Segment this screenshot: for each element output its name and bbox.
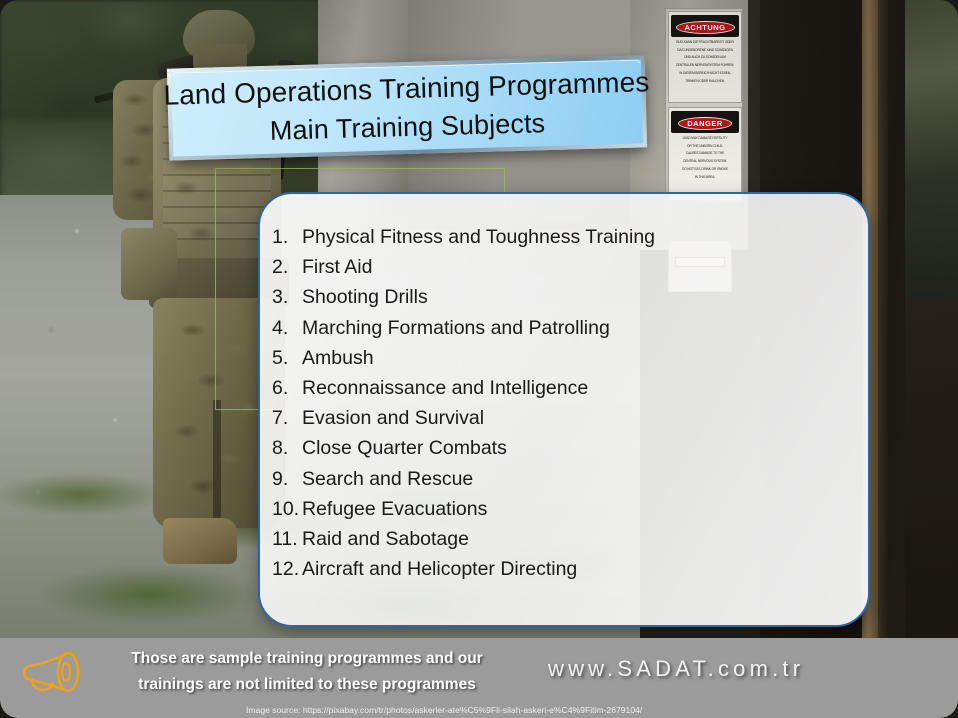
subject-number: 2. xyxy=(272,252,302,282)
subject-number: 10. xyxy=(272,494,302,524)
subject-item: 9.Search and Rescue xyxy=(272,464,856,494)
subject-number: 4. xyxy=(272,313,302,343)
subject-label: Marching Formations and Patrolling xyxy=(302,313,610,343)
subject-item: 3.Shooting Drills xyxy=(272,282,856,312)
subject-label: Reconnaissance and Intelligence xyxy=(302,373,588,403)
subject-item: 5.Ambush xyxy=(272,343,856,373)
image-source-credit[interactable]: İmage source: https://pixabay.com/tr/pho… xyxy=(246,705,642,715)
subject-label: Refugee Evacuations xyxy=(302,494,487,524)
subject-number: 5. xyxy=(272,343,302,373)
subject-label: Shooting Drills xyxy=(302,282,428,312)
subject-number: 11. xyxy=(272,524,302,554)
footer-disclaimer: Those are sample training programmes and… xyxy=(92,646,522,698)
subject-number: 7. xyxy=(272,403,302,433)
subject-item: 4.Marching Formations and Patrolling xyxy=(272,313,856,343)
subject-label: Search and Rescue xyxy=(302,464,473,494)
subject-item: 10.Refugee Evacuations xyxy=(272,494,856,524)
subject-label: Ambush xyxy=(302,343,374,373)
subject-label: Evasion and Survival xyxy=(302,403,484,433)
training-subjects-list: 1.Physical Fitness and Toughness Trainin… xyxy=(272,222,856,584)
subject-label: Physical Fitness and Toughness Training xyxy=(302,222,655,252)
website-url[interactable]: www.SADAT.com.tr xyxy=(548,656,948,682)
subject-item: 7.Evasion and Survival xyxy=(272,403,856,433)
footer-disclaimer-line-2: trainings are not limited to these progr… xyxy=(92,672,522,698)
subject-number: 3. xyxy=(272,282,302,312)
subject-item: 1.Physical Fitness and Toughness Trainin… xyxy=(272,222,856,252)
subject-number: 6. xyxy=(272,373,302,403)
subject-item: 11.Raid and Sabotage xyxy=(272,524,856,554)
subjects-panel: 1.Physical Fitness and Toughness Trainin… xyxy=(258,192,870,627)
subject-item: 2.First Aid xyxy=(272,252,856,282)
subject-label: First Aid xyxy=(302,252,372,282)
title-line-2: Main Training Subjects xyxy=(269,104,545,150)
presentation-slide: ACHTUNG BLEI KANN DIE FRUCHTBARKEIT ODER… xyxy=(0,0,958,718)
subject-item: 6.Reconnaissance and Intelligence xyxy=(272,373,856,403)
subject-label: Raid and Sabotage xyxy=(302,524,469,554)
subject-label: Aircraft and Helicopter Directing xyxy=(302,554,577,584)
slide-title-banner: Land Operations Training Programmes Main… xyxy=(167,55,647,160)
subject-number: 12. xyxy=(272,554,302,584)
megaphone-icon xyxy=(18,648,84,698)
subject-number: 8. xyxy=(272,433,302,463)
subject-label: Close Quarter Combats xyxy=(302,433,507,463)
subject-item: 8.Close Quarter Combats xyxy=(272,433,856,463)
subject-number: 1. xyxy=(272,222,302,252)
footer-disclaimer-line-1: Those are sample training programmes and… xyxy=(92,646,522,672)
slide-footer: Those are sample training programmes and… xyxy=(0,638,958,718)
subject-number: 9. xyxy=(272,464,302,494)
subject-item: 12.Aircraft and Helicopter Directing xyxy=(272,554,856,584)
